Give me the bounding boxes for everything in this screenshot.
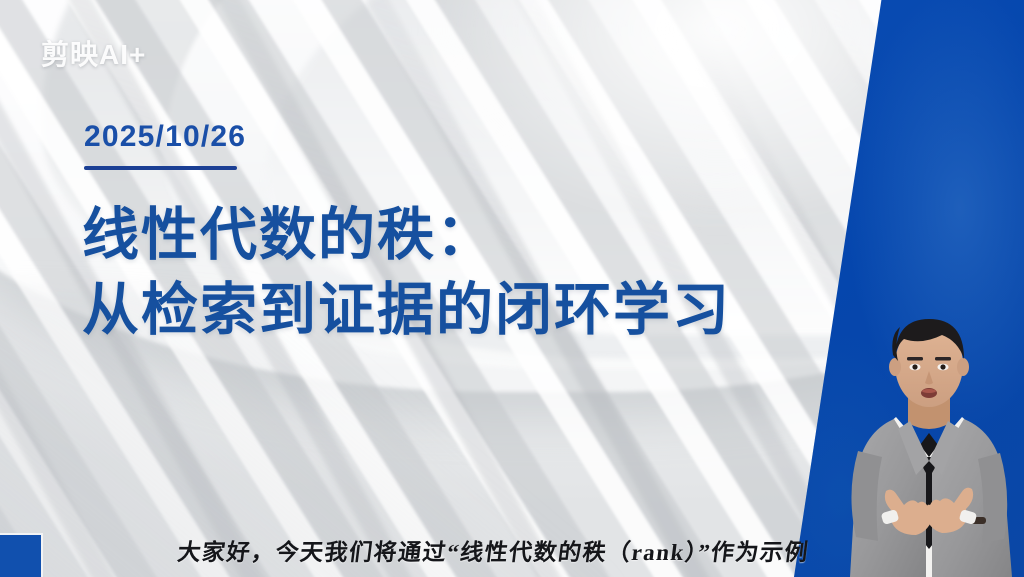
date-text: 2025/10/26 [84,120,246,153]
title-line-1: 线性代数的秩： [82,198,731,273]
bottom-left-blue-square [0,533,43,577]
title-line-2: 从检索到证据的闭环学习 [82,273,731,348]
date-block: 2025/10/26 [84,120,246,170]
page-title: 线性代数的秩： 从检索到证据的闭环学习 [82,198,731,348]
brand-logo: 剪映AI+ [41,33,146,73]
date-underline-rule [84,166,237,170]
subtitle-caption: 大家好，今天我们将通过“线性代数的秩（rank）”作为示例 [176,533,811,567]
slide-canvas: 剪映AI+ 2025/10/26 线性代数的秩： 从检索到证据的闭环学习 大家好… [0,0,1024,577]
ai-presenter-avatar [834,305,1024,577]
